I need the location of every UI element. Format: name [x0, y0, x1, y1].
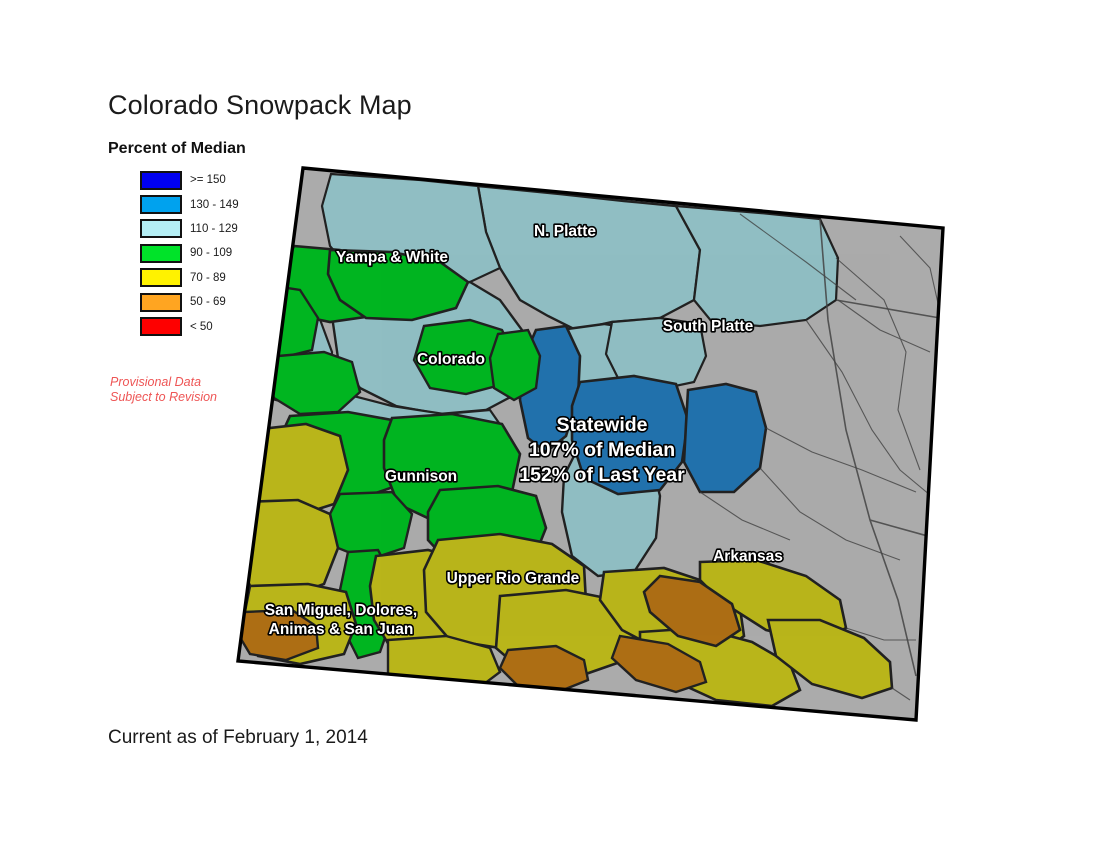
basin-label-san-miguel-line2: Animas & San Juan — [269, 621, 414, 638]
basin-label-colorado: Colorado — [417, 351, 485, 368]
statewide-line-3: 152% of Last Year — [519, 464, 685, 486]
basin-label-upper-rio-grande: Upper Rio Grande — [447, 570, 580, 587]
basin-label-san-miguel-line1: San Miguel, Dolores, — [265, 602, 417, 619]
as-of-date: Current as of February 1, 2014 — [108, 727, 368, 749]
basin-label-arkansas: Arkansas — [713, 548, 783, 565]
snowpack-map-page: Colorado Snowpack Map Percent of Median … — [0, 0, 1100, 850]
basin-label-yampa-white: Yampa & White — [336, 249, 448, 266]
colorado-basin-map: N. Platte Yampa & White South Platte Col… — [0, 0, 1100, 850]
statewide-line-2: 107% of Median — [529, 439, 675, 461]
basin-label-n-platte: N. Platte — [534, 223, 596, 240]
basin-label-south-platte: South Platte — [663, 318, 754, 335]
statewide-line-1: Statewide — [556, 414, 647, 436]
basin-label-gunnison: Gunnison — [385, 468, 457, 485]
